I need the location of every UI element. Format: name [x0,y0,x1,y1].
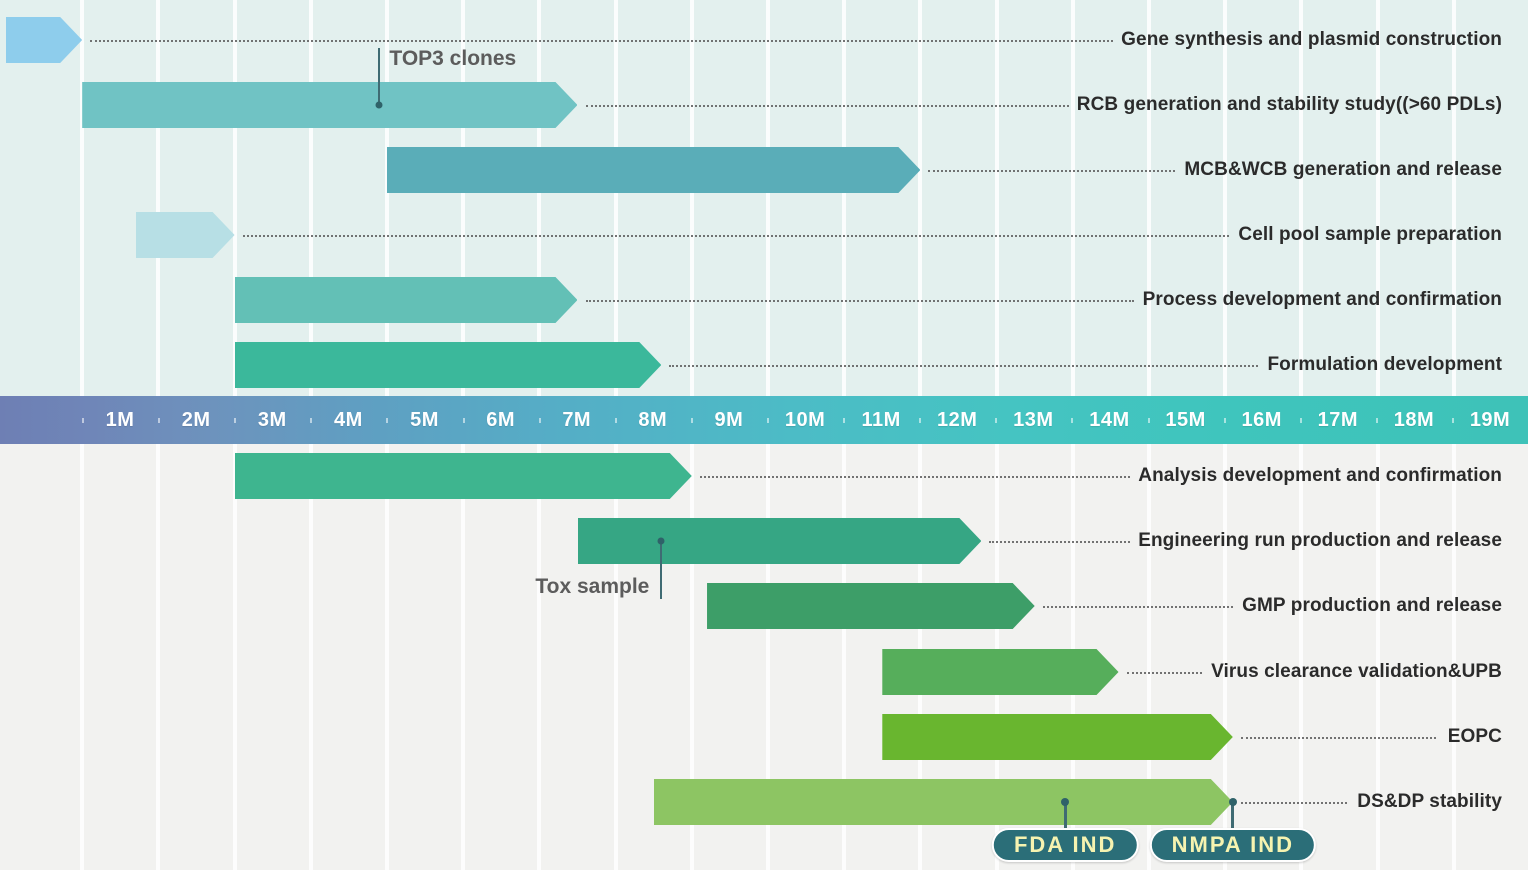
task-bar-9[interactable] [882,649,1118,695]
leader-line-5 [669,365,1258,367]
axis-tick-12M[interactable]: 12M [919,409,995,432]
task-label-6: Analysis development and confirmation [1138,465,1502,487]
timeline-axis[interactable]: 1M2M3M4M5M6M7M8M9M10M11M12M13M14M15M16M1… [0,396,1528,444]
task-bar-4[interactable] [235,277,578,323]
milestone-dot-fda [1061,798,1069,806]
leader-line-11 [1241,802,1347,804]
axis-tick-10M[interactable]: 10M [767,409,843,432]
task-label-1: RCB generation and stability study((>60 … [1077,94,1502,116]
axis-tick-13M[interactable]: 13M [995,409,1071,432]
top3-callout-line [378,48,380,105]
task-bar-1[interactable] [82,82,577,128]
task-bar-11[interactable] [654,779,1233,825]
leader-line-1 [586,105,1070,107]
leader-line-6 [700,476,1130,478]
axis-tick-1M[interactable]: 1M [82,409,158,432]
leader-line-8 [1043,606,1233,608]
task-label-7: Engineering run production and release [1138,530,1502,552]
axis-tick-19M[interactable]: 19M [1452,409,1528,432]
task-label-9: Virus clearance validation&UPB [1211,661,1502,683]
axis-tick-3M[interactable]: 3M [234,409,310,432]
task-bar-8[interactable] [707,583,1035,629]
task-bar-5[interactable] [235,342,662,388]
leader-line-2 [928,170,1175,172]
top3-callout-dot [376,102,383,109]
task-label-0: Gene synthesis and plasmid construction [1121,29,1502,51]
task-bar-7[interactable] [578,518,982,564]
milestone-badge-nmpa[interactable]: NMPA IND [1150,828,1316,862]
leader-line-3 [243,235,1229,237]
axis-tick-2M[interactable]: 2M [158,409,234,432]
tox-callout-label: Tox sample [535,575,649,599]
task-label-5: Formulation development [1267,354,1502,376]
axis-tick-16M[interactable]: 16M [1224,409,1300,432]
milestone-badge-fda[interactable]: FDA IND [992,828,1138,862]
task-bar-10[interactable] [882,714,1233,760]
axis-tick-17M[interactable]: 17M [1300,409,1376,432]
task-bar-2[interactable] [387,147,920,193]
tox-callout-line [660,541,662,599]
axis-tick-11M[interactable]: 11M [843,409,919,432]
axis-tick-7M[interactable]: 7M [539,409,615,432]
gantt-chart: Gene synthesis and plasmid constructionR… [0,0,1528,870]
task-label-4: Process development and confirmation [1143,289,1502,311]
leader-line-0 [90,40,1113,42]
task-label-3: Cell pool sample preparation [1238,224,1502,246]
leader-line-7 [989,541,1130,543]
leader-line-9 [1127,672,1202,674]
axis-tick-18M[interactable]: 18M [1376,409,1452,432]
task-label-8: GMP production and release [1242,595,1502,617]
task-bar-6[interactable] [235,453,692,499]
leader-line-10 [1241,737,1436,739]
axis-tick-9M[interactable]: 9M [691,409,767,432]
task-label-2: MCB&WCB generation and release [1184,159,1502,181]
top3-callout-label: TOP3 clones [389,47,516,71]
task-label-10: EOPC [1448,726,1502,748]
leader-line-4 [586,300,1135,302]
axis-tick-6M[interactable]: 6M [463,409,539,432]
tox-callout-dot [658,538,665,545]
axis-tick-4M[interactable]: 4M [310,409,386,432]
axis-tick-14M[interactable]: 14M [1071,409,1147,432]
axis-tick-15M[interactable]: 15M [1148,409,1224,432]
axis-tick-8M[interactable]: 8M [615,409,691,432]
axis-tick-container: 1M2M3M4M5M6M7M8M9M10M11M12M13M14M15M16M1… [82,409,1528,432]
axis-tick-5M[interactable]: 5M [386,409,462,432]
milestone-dot-nmpa [1229,798,1237,806]
task-label-11: DS&DP stability [1357,791,1502,813]
